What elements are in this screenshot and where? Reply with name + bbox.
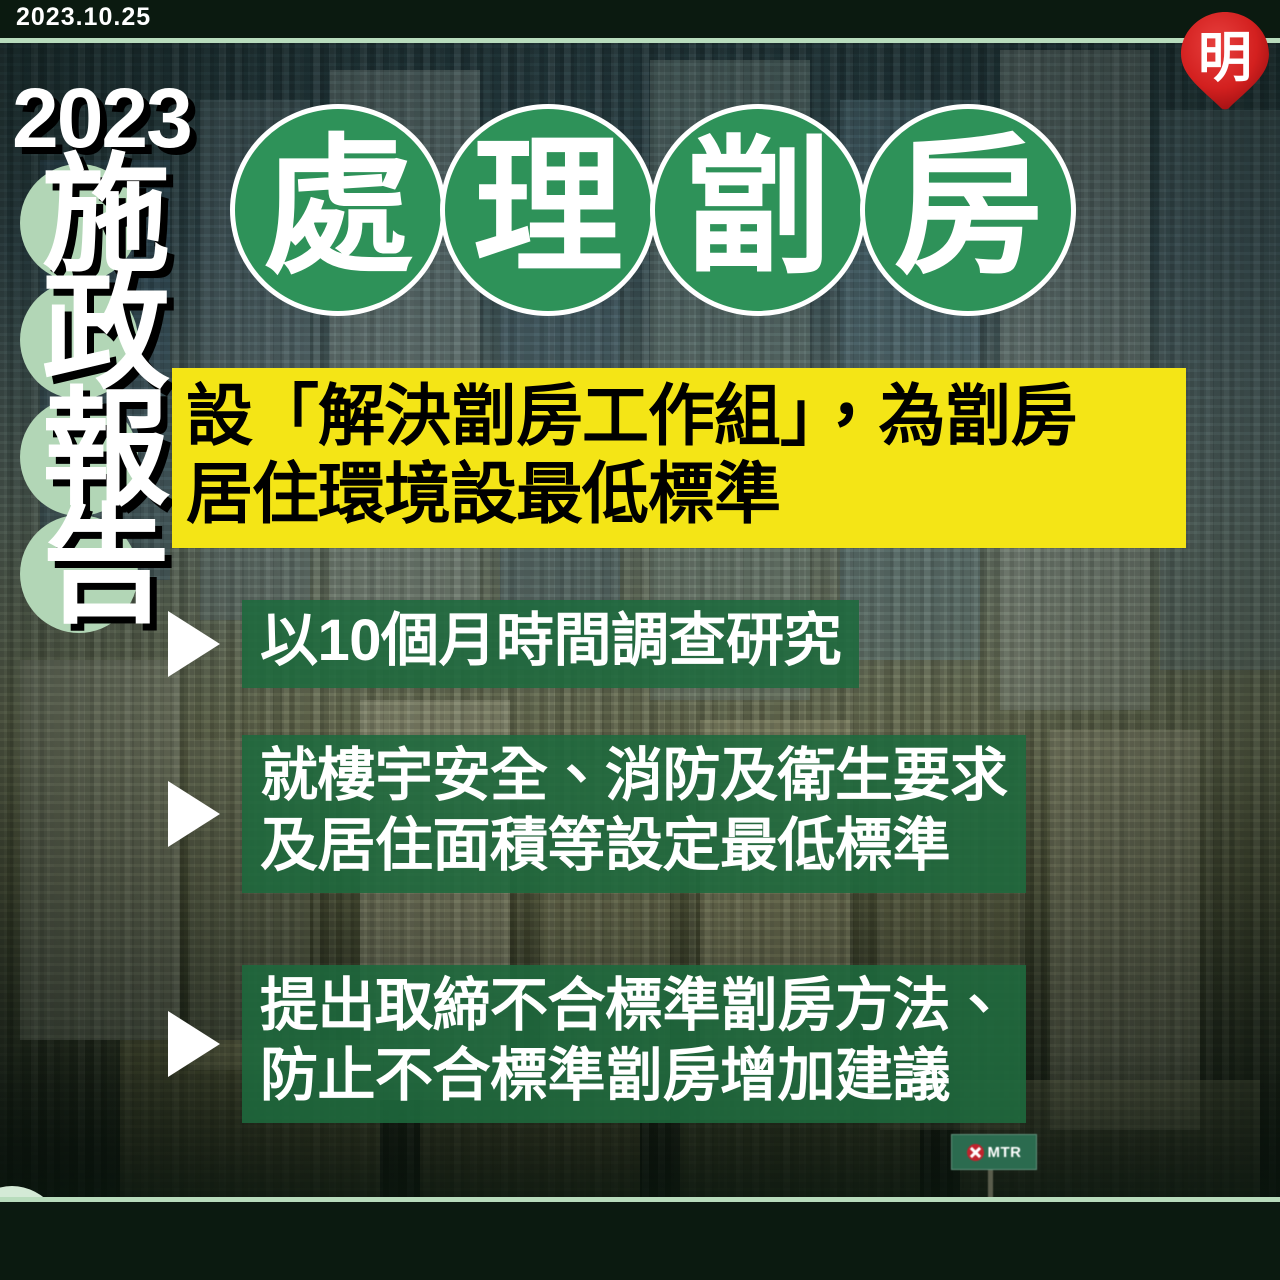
mtr-sign: MTR: [951, 1134, 1037, 1170]
highlight-line: 設「解決劏房工作組」，為劏房: [186, 378, 1172, 456]
bottom-divider-line: [0, 1197, 1280, 1202]
headline-char-label: 處: [263, 132, 413, 282]
play-triangle-icon: [168, 611, 220, 677]
masthead: 2023 施 政 報 告: [0, 60, 200, 620]
highlight-line: 居住環境設最低標準: [186, 456, 1172, 534]
bullet-text-box: 以10個月時間調查研究: [242, 600, 859, 688]
masthead-char-label: 告: [42, 503, 170, 631]
bullet-item: 提出取締不合標準劏房方法、 防止不合標準劏房增加建議: [168, 965, 1026, 1123]
masthead-vertical-title: 施 政 報 告: [6, 160, 196, 628]
masthead-char: 報: [6, 394, 196, 511]
bottom-bar: [0, 1202, 1280, 1280]
mtr-sign-label: MTR: [988, 1144, 1022, 1161]
bullet-line: 就樓宇安全、消防及衛生要求: [260, 741, 1008, 811]
headline-char-label: 劏: [683, 132, 833, 282]
bullet-item: 就樓宇安全、消防及衛生要求 及居住面積等設定最低標準: [168, 735, 1026, 893]
bullet-line: 提出取締不合標準劏房方法、: [260, 971, 1008, 1041]
bullet-text-box: 就樓宇安全、消防及衛生要求 及居住面積等設定最低標準: [242, 735, 1026, 893]
top-divider-line: [0, 38, 1280, 43]
masthead-char: 施: [6, 160, 196, 277]
headline-circle: 劏: [650, 104, 866, 316]
headline-char-label: 理: [473, 132, 623, 282]
headline-circle: 房: [860, 104, 1076, 316]
publication-date: 2023.10.25: [16, 3, 151, 32]
highlight-box: 設「解決劏房工作組」，為劏房 居住環境設最低標準: [172, 368, 1186, 548]
play-triangle-icon: [168, 1011, 220, 1077]
poster-root: MTR 2023.10.25 明 2023 施: [0, 0, 1280, 1280]
headline-circle: 理: [440, 104, 656, 316]
bullet-item: 以10個月時間調查研究: [168, 600, 859, 688]
bullet-text-box: 提出取締不合標準劏房方法、 防止不合標準劏房增加建議: [242, 965, 1026, 1123]
mtr-logo-icon: [967, 1144, 984, 1161]
svg-text:明: 明: [1198, 28, 1252, 88]
bullet-line: 及居住面積等設定最低標準: [260, 811, 1008, 881]
headline-circle: 處: [230, 104, 446, 316]
headline-char-label: 房: [893, 132, 1043, 282]
play-triangle-icon: [168, 781, 220, 847]
bullet-line: 防止不合標準劏房增加建議: [260, 1041, 1008, 1111]
bullet-line: 以10個月時間調查研究: [260, 606, 841, 676]
headline-title: 處 理 劏 房: [230, 104, 1110, 316]
top-date-bar: 2023.10.25: [0, 0, 1280, 38]
masthead-char: 政: [6, 277, 196, 394]
mingpao-logo-icon: 明: [1177, 8, 1273, 112]
